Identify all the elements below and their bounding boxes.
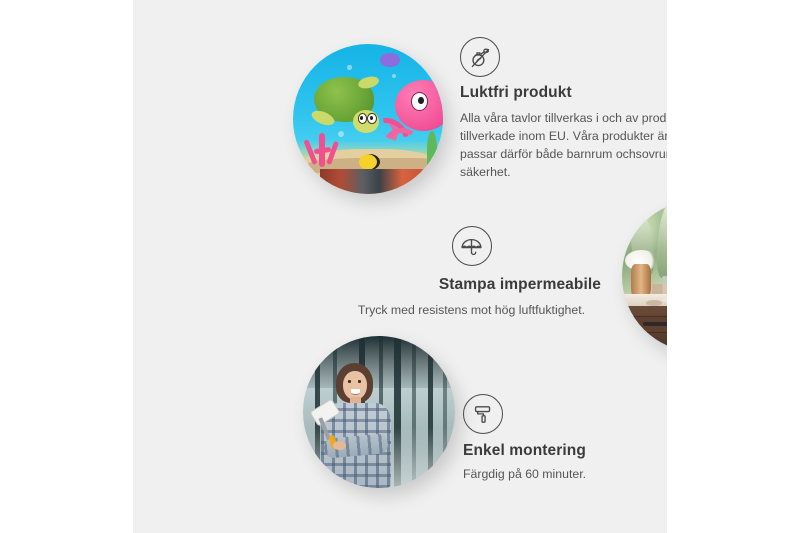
purple-fish bbox=[380, 53, 400, 67]
forest-canopy bbox=[303, 336, 455, 388]
bathroom-botanical-wallpaper-photo bbox=[622, 200, 667, 352]
turtle-pupil-left bbox=[360, 116, 363, 120]
paint-roller-icon bbox=[463, 394, 503, 434]
product-feature-infographic: Luktfri produkt Alla våra tavlor tillver… bbox=[0, 0, 800, 533]
bathroom-illustration bbox=[622, 200, 667, 352]
feature-text-easy-installation: Enkel montering Färgdig på 60 minuter. bbox=[463, 394, 667, 483]
bubble bbox=[392, 74, 396, 78]
bubble bbox=[347, 65, 352, 70]
room-furniture-strip bbox=[320, 169, 434, 195]
woman-face bbox=[343, 371, 367, 400]
woman-hand bbox=[333, 441, 345, 450]
seaweed bbox=[427, 131, 438, 170]
bubble bbox=[338, 131, 344, 137]
feature-text-waterproof-print: Stampa impermeabile Tryck med resistens … bbox=[339, 226, 604, 319]
feature-body: Färgdig på 60 minuter. bbox=[463, 465, 667, 483]
octopus-pupil bbox=[418, 97, 424, 105]
woman-eye-right bbox=[358, 380, 362, 383]
umbrella-icon bbox=[452, 226, 492, 266]
feature-body: Tryck med resistens mot hög luftfuktighe… bbox=[339, 301, 604, 319]
woman-smile bbox=[351, 389, 360, 395]
feature-body: Alla våra tavlor tillverkas i och av pro… bbox=[460, 109, 667, 181]
feature-title: Luktfri produkt bbox=[460, 84, 667, 103]
underwater-illustration bbox=[293, 44, 443, 194]
underwater-cartoon-mural-photo bbox=[293, 44, 443, 194]
no-scent-bottle-icon bbox=[460, 37, 500, 77]
feature-title: Stampa impermeabile bbox=[339, 276, 604, 295]
faucet bbox=[662, 276, 667, 280]
drawer-handle bbox=[643, 322, 667, 326]
turtle-flipper-rear bbox=[357, 75, 380, 90]
content-panel: Luktfri produkt Alla våra tavlor tillver… bbox=[133, 0, 667, 533]
feature-title: Enkel montering bbox=[463, 442, 667, 461]
forest-illustration bbox=[303, 336, 455, 488]
feature-text-odour-free: Luktfri produkt Alla våra tavlor tillver… bbox=[460, 37, 667, 181]
woman-with-paint-roller-forest-photo bbox=[303, 336, 455, 488]
